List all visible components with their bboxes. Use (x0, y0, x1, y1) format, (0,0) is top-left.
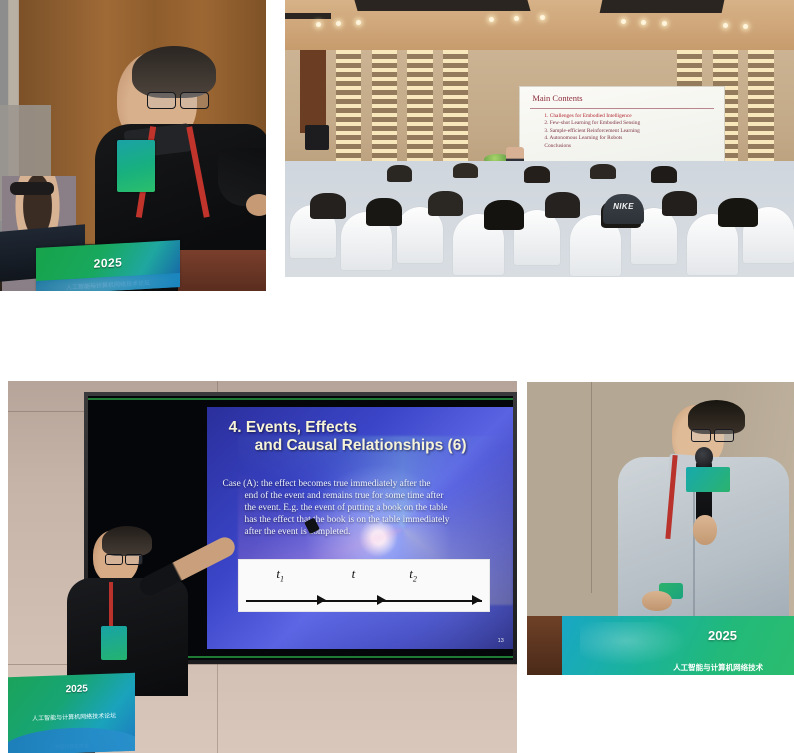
loudspeaker (305, 125, 328, 150)
podium-banner-year: 2025 (66, 684, 88, 696)
podium-banner: 2025 人工智能与计算机网络技术论坛 (36, 240, 180, 291)
wall-light-panel (443, 50, 468, 177)
wooden-desk (178, 250, 266, 291)
speaker-hand-resting (642, 591, 672, 611)
timeline-arrow-icon (377, 595, 386, 605)
glasses-icon (105, 554, 143, 563)
slide-title-rule (530, 108, 713, 109)
slide-list-item: 1. Challenges for Embodied Intelligence (544, 113, 640, 121)
slide-body-line: the event. E.g. the event of putting a b… (223, 503, 504, 515)
audience-member (524, 166, 549, 182)
wall-light-panel (407, 50, 432, 177)
speaker-hand-holding-mic (693, 515, 717, 545)
wall-light-panel (372, 50, 397, 177)
slide-page-number: 13 (498, 638, 504, 644)
slide-list-item: 2. Few-shot Learning for Embodied Sensin… (544, 120, 640, 128)
wall-light-panel (748, 50, 773, 177)
audience-member (662, 191, 698, 217)
audience-member (310, 193, 346, 219)
podium-banner-title: 人工智能与计算机网络技术 (673, 662, 763, 673)
timeline-label-t2: t2 (409, 566, 417, 584)
speaker-hand (246, 194, 266, 216)
audience-member (387, 165, 412, 181)
podium-banner-title: 人工智能与计算机网络技术论坛 (66, 278, 150, 291)
slide-body-line: end of the event and remains true for so… (223, 491, 504, 503)
audience-member-nike-shirt: NIKE (603, 194, 644, 224)
slide-body-line: has the effect that the book is on the t… (223, 515, 504, 527)
photo-slide-presentation: 4. Events, Effects and Causal Relationsh… (8, 381, 517, 753)
wood-pillar (300, 50, 325, 133)
slide-list-item: 4. Autonomous Learning for Robots (544, 135, 640, 143)
photo-speaker-mic: 2025 人工智能与计算机网络技术 (527, 382, 794, 675)
audience-member (484, 200, 525, 230)
nike-shirt-text: NIKE (613, 202, 634, 211)
timeline-diagram: t1 t t2 (238, 559, 491, 612)
audience-member (545, 192, 581, 218)
audience-member (366, 198, 402, 226)
lanyard (109, 582, 113, 628)
name-badge (101, 626, 127, 660)
timeline-label-t1: t1 (276, 566, 284, 584)
presenter-hair (102, 526, 152, 556)
podium-banner-title: 人工智能与计算机网络技术论坛 (32, 710, 116, 722)
timeline-arrow-icon (317, 595, 326, 605)
timeline-axis (246, 600, 482, 602)
slide-contents-list: 1. Challenges for Embodied Intelligence … (534, 113, 640, 151)
slide-title-line1: 4. Events, Effects (229, 419, 357, 436)
slide-body-line: after the event is completed. (223, 527, 504, 539)
presenter-head (93, 530, 139, 584)
slide-title: Main Contents (532, 93, 582, 103)
audience-member (590, 164, 615, 179)
photo-audience-hall: Main Contents 1. Challenges for Embodied… (285, 0, 794, 277)
podium-banner: 2025 人工智能与计算机网络技术论坛 中国计算机学会 (8, 673, 135, 753)
wooden-desk (527, 616, 564, 675)
speaker-figure (618, 405, 789, 628)
speaker-hair (132, 46, 216, 98)
photo-collage: ☉ 2025 人工智能与计算机网络技术论坛 (0, 0, 794, 753)
hall-ceiling (285, 0, 794, 50)
glasses-icon (691, 429, 734, 440)
slide-title-line2: and Causal Relationships (6) (229, 437, 504, 455)
slide-body-text: Case (A): the effect becomes true immedi… (223, 479, 504, 538)
audience-member (428, 191, 464, 217)
slide-body-line: Case (A): the effect becomes true immedi… (223, 479, 504, 491)
audience-member (453, 163, 478, 178)
podium-banner-year: 2025 (708, 628, 737, 643)
podium-banner: 2025 人工智能与计算机网络技术 (562, 616, 794, 675)
name-badge (117, 140, 155, 192)
audience-member (718, 198, 759, 227)
presentation-slide: 4. Events, Effects and Causal Relationsh… (207, 407, 513, 649)
podium-banner-year: 2025 (94, 255, 123, 271)
audience-member (651, 166, 676, 182)
wall-light-panel (336, 50, 361, 177)
timeline-label-t: t (352, 566, 356, 582)
slide-title: 4. Events, Effects and Causal Relationsh… (229, 419, 504, 455)
podium-banner-submark: 中国计算机学会 (54, 742, 89, 750)
microphone-flag (686, 467, 730, 492)
audience-area (285, 161, 794, 277)
slide-list-item: Conclusions (544, 143, 640, 151)
timeline-arrow-icon (472, 595, 481, 605)
photo-speaker-podium: ☉ 2025 人工智能与计算机网络技术论坛 (0, 0, 266, 291)
glasses-icon (147, 92, 213, 107)
